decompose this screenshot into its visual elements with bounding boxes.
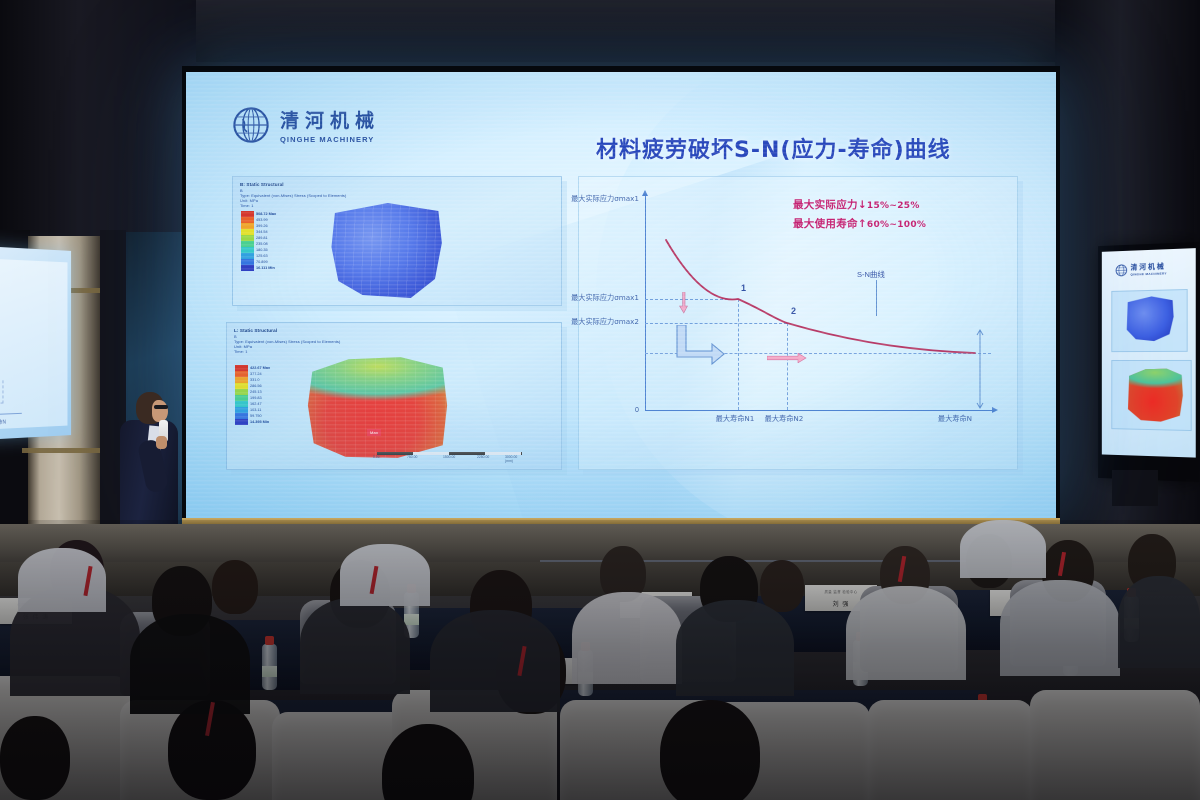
x-axis-label-n1: 最大寿命N1 xyxy=(716,414,755,424)
audience-person xyxy=(340,544,430,606)
globe-icon xyxy=(1115,263,1127,276)
right-monitor-stand xyxy=(1112,470,1158,506)
annotation-life-label: 最大使用寿命 xyxy=(793,218,858,230)
audience-person xyxy=(18,548,106,612)
audience-person xyxy=(676,600,794,696)
fea-panel-top: B: Static Structural B Type: Equivalent … xyxy=(232,176,562,306)
right-monitor-fea-bottom xyxy=(1111,360,1191,431)
right-monitor-screen: 清河机械 QINGHE MACHINERY xyxy=(1102,248,1196,457)
scalebar-tick-4: 3000.00 (mm) xyxy=(505,455,522,463)
life-extent-bracket-icon xyxy=(975,329,985,409)
fea-bottom-colorbar xyxy=(235,365,248,425)
y-axis-label-top: 最大实际应力σmax1 xyxy=(571,194,639,204)
improvement-elbow-arrow-icon xyxy=(675,325,725,365)
colorbar-value: 16.111 Min xyxy=(256,265,276,271)
logo-text-en: QINGHE MACHINERY xyxy=(280,135,380,144)
presentation-slide: 清河机械 QINGHE MACHINERY B: Static Structur… xyxy=(186,72,1056,520)
sn-curve-chart: 0 最大实际应力σmax1 最大实际应力σmax1 最大实际应力σmax2 最大… xyxy=(578,176,1018,470)
stress-decrease-arrow-icon xyxy=(679,292,688,314)
presenter xyxy=(112,392,192,542)
audience-head xyxy=(660,700,760,800)
scalebar-tick-1: 750.00 xyxy=(407,455,417,459)
fea-bottom-colorbar-labels: 422.67 Max377.24331.0286.56245.13199.831… xyxy=(250,365,270,425)
led-wall-screen: 清河机械 QINGHE MACHINERY B: Static Structur… xyxy=(186,72,1056,520)
data-point-2-label: 2 xyxy=(791,306,796,316)
y-axis-label-sigma2: 最大实际应力σmax2 xyxy=(571,317,639,327)
fea-bottom-mesh-result xyxy=(305,355,450,460)
origin-label: 0 xyxy=(635,407,639,414)
fea-bottom-metadata: L: Static Structural B Type: Equivalent … xyxy=(234,328,340,354)
annotation-stress-arrow: ↓ xyxy=(858,199,867,211)
x-axis xyxy=(645,410,993,411)
bottle-label xyxy=(404,614,419,625)
life-increase-arrow-icon xyxy=(767,353,807,363)
colorbar-swatch xyxy=(235,419,248,425)
fea-top-time: Time: 1 xyxy=(240,203,346,208)
bottle-label xyxy=(262,666,277,677)
audience-chair xyxy=(1030,690,1200,800)
audience-head xyxy=(0,716,70,800)
scene-root: 曲线 最大寿命N 清河机械 QINGHE MACHINERY xyxy=(0,0,1200,800)
right-monitor-logo: 清河机械 QINGHE MACHINERY xyxy=(1115,261,1167,277)
y-axis-label-sigma2-text: 最大实际应力σmax2 xyxy=(571,317,639,326)
right-monitor-mesh-red xyxy=(1126,367,1185,424)
audience-chair xyxy=(868,700,1033,800)
x-axis-label-n: 最大寿命N xyxy=(938,414,972,424)
audience-person xyxy=(572,592,682,684)
y-axis-label-sigma1-text: 最大实际应力σmax1 xyxy=(571,293,639,302)
scalebar-tick-2: 1500.00 xyxy=(443,455,455,459)
logo-text-cn: 清河机械 xyxy=(280,106,380,133)
right-monitor: 清河机械 QINGHE MACHINERY xyxy=(1098,242,1200,482)
audience-person xyxy=(430,610,560,712)
audience-head xyxy=(212,560,258,614)
audience-person xyxy=(300,598,410,694)
scalebar-tick-3: 2250.00 xyxy=(477,455,489,459)
audience-person xyxy=(130,614,250,714)
scalebar-tick-0: 0.00 xyxy=(373,455,380,459)
audience-person xyxy=(1000,580,1120,676)
data-point-1-label: 1 xyxy=(741,283,746,293)
right-monitor-mesh-blue xyxy=(1124,294,1175,343)
annotation-stress: 最大实际应力↓15%~25% xyxy=(793,197,920,212)
fea-bottom-time: Time: 1 xyxy=(234,349,340,354)
fea-top-metadata: B: Static Structural B Type: Equivalent … xyxy=(240,182,346,208)
left-monitor: 曲线 最大寿命N xyxy=(0,245,71,441)
fea-bottom-max-tag: Max xyxy=(367,429,381,436)
annotation-stress-label: 最大实际应力 xyxy=(793,199,858,211)
slide-logo: 清河机械 QINGHE MACHINERY xyxy=(232,106,380,144)
fea-top-colorbar xyxy=(241,211,254,271)
audience-person xyxy=(1118,576,1200,668)
audience-person xyxy=(960,520,1046,578)
colorbar-swatch xyxy=(241,265,254,271)
audience-person xyxy=(846,586,966,680)
audience-head xyxy=(760,560,804,612)
fea-bottom-scalebar: 0.00 750.00 1500.00 2250.00 3000.00 (mm) xyxy=(377,449,522,458)
right-monitor-logo-en: QINGHE MACHINERY xyxy=(1131,271,1167,276)
left-monitor-xlabel: 最大寿命N xyxy=(0,418,6,426)
left-monitor-screen: 曲线 最大寿命N xyxy=(0,258,67,431)
y-axis-label-sigma1: 最大实际应力σmax1 xyxy=(571,293,639,303)
fea-top-mesh-result xyxy=(328,201,443,301)
colorbar-value: 14.395 Min xyxy=(250,419,270,425)
presenter-face xyxy=(152,400,168,422)
annotation-stress-value: 15%~25% xyxy=(867,201,920,211)
curve-callout-label: S-N曲线 xyxy=(857,269,885,280)
presenter-hand xyxy=(156,436,167,449)
annotation-life-value: 60%~100% xyxy=(867,220,926,230)
x-axis-label-n2: 最大寿命N2 xyxy=(765,414,804,424)
fea-panel-bottom: L: Static Structural B Type: Equivalent … xyxy=(226,322,562,470)
right-monitor-fea-top xyxy=(1111,289,1187,352)
globe-icon xyxy=(232,106,270,144)
fea-top-colorbar-labels: 508.72 Max453.99399.26344.54289.81235.08… xyxy=(256,211,276,271)
page-title: 材料疲劳破坏S-N(应力-寿命)曲线 xyxy=(596,132,951,164)
annotation-life-arrow: ↑ xyxy=(858,218,867,230)
y-axis-label-top-text: 最大实际应力σmax1 xyxy=(571,194,639,203)
annotation-life: 最大使用寿命↑60%~100% xyxy=(793,216,926,231)
presenter-glasses xyxy=(154,405,168,409)
water-bottle xyxy=(262,644,277,690)
left-monitor-chart-axes xyxy=(0,378,22,416)
sn-plot-area: 0 最大实际应力σmax1 最大实际应力σmax1 最大实际应力σmax2 最大… xyxy=(645,195,995,445)
curve-callout-leader xyxy=(876,280,877,316)
